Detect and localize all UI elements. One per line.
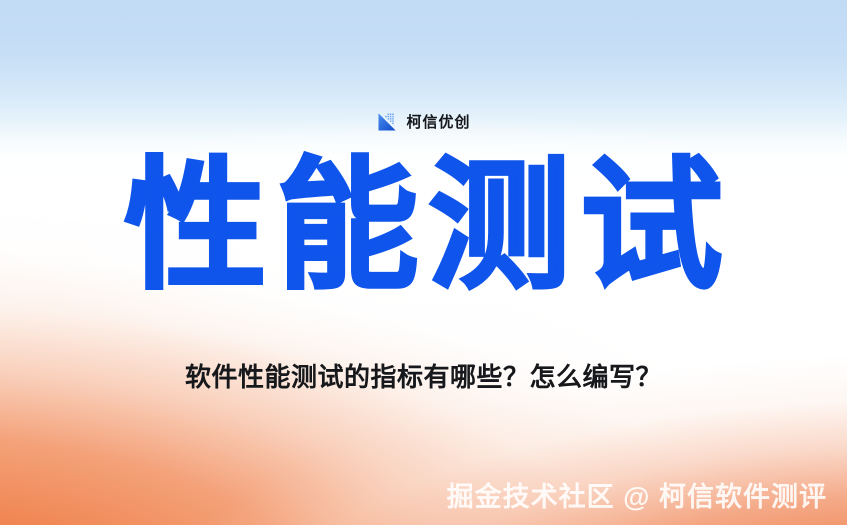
page-subtitle: 软件性能测试的指标有哪些？怎么编写？ [0,362,847,393]
pixel-triangle-logo-icon [376,111,398,133]
poster-content: 柯信优创 性能测试 软件性能测试的指标有哪些？怎么编写？ 掘金技术社区 @ 柯信… [0,0,847,525]
poster-canvas: 柯信优创 性能测试 软件性能测试的指标有哪些？怎么编写？ 掘金技术社区 @ 柯信… [0,0,847,525]
page-title: 性能测试 [0,156,847,298]
brand-lockup: 柯信优创 [0,111,847,133]
watermark-credit: 掘金技术社区 @ 柯信软件测评 [447,481,827,513]
brand-name: 柯信优创 [406,115,470,130]
